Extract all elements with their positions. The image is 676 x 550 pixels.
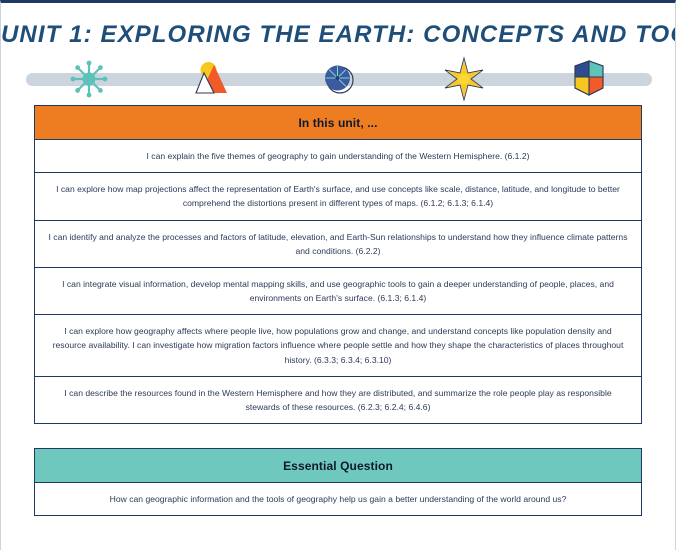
- color-cube-icon: [566, 57, 612, 101]
- mountain-sun-icon: [191, 57, 237, 101]
- essential-question-header: Essential Question: [35, 449, 641, 483]
- bottom-spacer: [1, 516, 675, 550]
- table-row: I can explain the five themes of geograp…: [35, 140, 641, 173]
- table-row: I can explore how map projections affect…: [35, 173, 641, 220]
- table-row: How can geographic information and the t…: [35, 483, 641, 515]
- unit-objectives-table: In this unit, ... I can explain the five…: [34, 105, 642, 424]
- sun-star-icon: [441, 57, 487, 101]
- table-row: I can integrate visual information, deve…: [35, 268, 641, 315]
- essential-question-table: Essential Question How can geographic in…: [34, 448, 642, 516]
- icon-progress-bar: [1, 57, 675, 101]
- unit-table-header: In this unit, ...: [35, 106, 641, 140]
- table-row: I can identify and analyze the processes…: [35, 221, 641, 268]
- page-title: UNIT 1: EXPLORING THE EARTH: CONCEPTS AN…: [1, 3, 675, 49]
- unit-overview-page: UNIT 1: EXPLORING THE EARTH: CONCEPTS AN…: [0, 0, 676, 550]
- teal-virus-burst-icon: [66, 57, 112, 101]
- table-row: I can explore how geography affects wher…: [35, 315, 641, 377]
- globe-compass-icon: [316, 57, 362, 101]
- table-row: I can describe the resources found in th…: [35, 377, 641, 423]
